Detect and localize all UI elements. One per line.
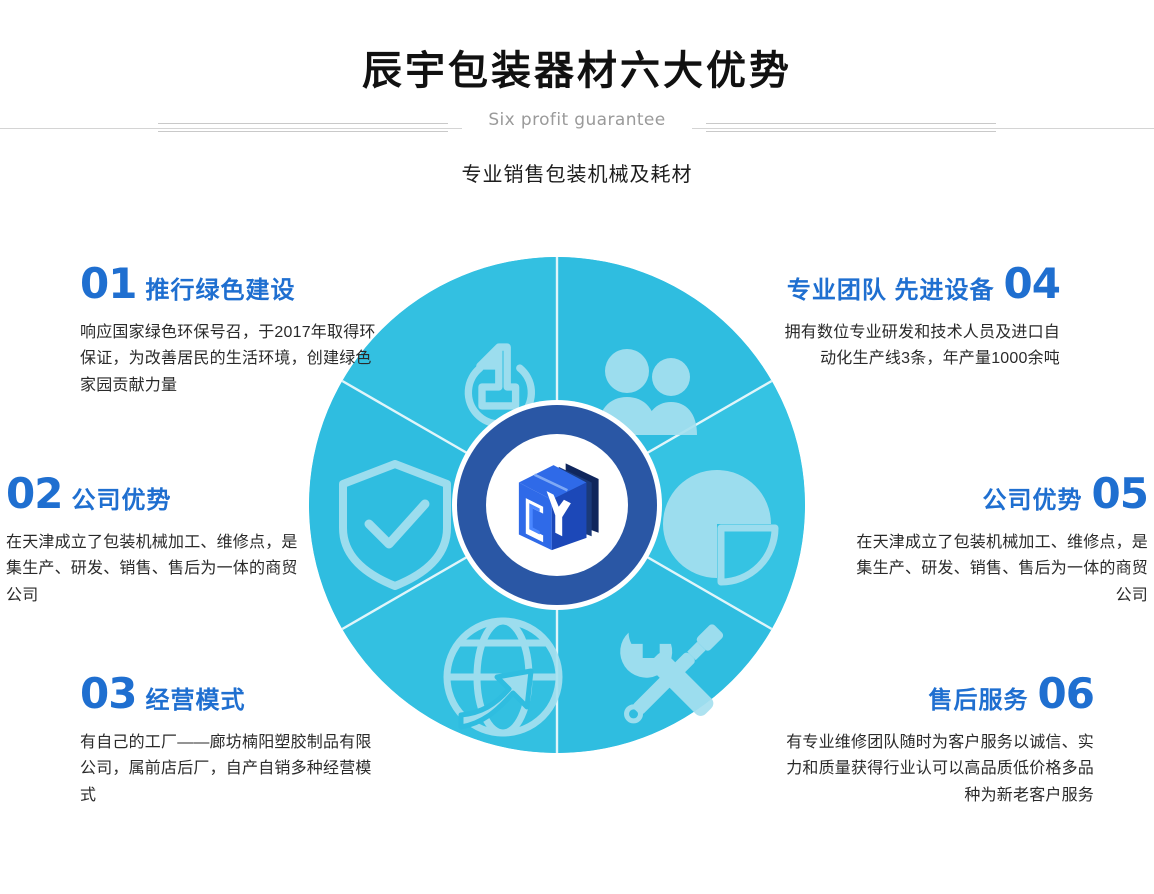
advantage-number-03: 03 xyxy=(80,673,136,715)
advantage-heading-03: 03 经营模式 xyxy=(80,673,386,715)
advantage-item-01: 01 推行绿色建设 响应国家绿色环保号召，于2017年取得环保证，为改善居民的生… xyxy=(80,263,380,399)
advantage-title-04: 专业团队 先进设备 xyxy=(787,279,995,303)
advantage-heading-04: 专业团队 先进设备 04 xyxy=(772,263,1060,305)
advantage-item-02: 02 公司优势 在天津成立了包装机械加工、维修点，是集生产、研发、销售、售后为一… xyxy=(6,473,302,609)
advantage-item-06: 售后服务 06 有专业维修团队随时为客户服务以诚信、实力和质量获得行业认可以高品… xyxy=(778,673,1094,809)
advantage-heading-02: 02 公司优势 xyxy=(6,473,302,515)
subtitle-english: Six profit guarantee xyxy=(0,110,1154,130)
advantage-item-04: 专业团队 先进设备 04 拥有数位专业研发和技术人员及进口自动化生产线3条，年产… xyxy=(772,263,1060,373)
advantage-body-05: 在天津成立了包装机械加工、维修点，是集生产、研发、销售、售后为一体的商贸公司 xyxy=(850,530,1148,609)
advantage-number-05: 05 xyxy=(1092,473,1148,515)
advantage-title-03: 经营模式 xyxy=(145,689,245,713)
advantage-heading-01: 01 推行绿色建设 xyxy=(80,263,380,305)
advantage-title-06: 售后服务 xyxy=(929,689,1029,713)
advantage-heading-05: 公司优势 05 xyxy=(850,473,1148,515)
chenyu-box-logo-icon xyxy=(505,453,609,557)
wheel-hub xyxy=(457,405,657,605)
advantage-number-02: 02 xyxy=(6,473,62,515)
subtitle-chinese: 专业销售包装机械及耗材 xyxy=(0,158,1154,187)
advantage-body-06: 有专业维修团队随时为客户服务以诚信、实力和质量获得行业认可以高品质低价格多品种为… xyxy=(778,730,1094,809)
infographic-page: 辰宇包装器材六大优势 Six profit guarantee 专业销售包装机械… xyxy=(0,0,1154,894)
advantage-title-05: 公司优势 xyxy=(983,489,1083,513)
advantage-title-02: 公司优势 xyxy=(71,489,171,513)
advantage-title-01: 推行绿色建设 xyxy=(145,279,295,303)
advantage-number-01: 01 xyxy=(80,263,136,305)
hub-inner-circle xyxy=(486,434,628,576)
advantage-body-01: 响应国家绿色环保号召，于2017年取得环保证，为改善居民的生活环境，创建绿色家园… xyxy=(80,320,380,399)
advantage-number-06: 06 xyxy=(1038,673,1094,715)
advantage-item-05: 公司优势 05 在天津成立了包装机械加工、维修点，是集生产、研发、销售、售后为一… xyxy=(850,473,1148,609)
advantage-heading-06: 售后服务 06 xyxy=(778,673,1094,715)
advantage-body-03: 有自己的工厂——廊坊楠阳塑胶制品有限公司，属前店后厂，自产自销多种经营模式 xyxy=(80,730,386,809)
advantage-number-04: 04 xyxy=(1004,263,1060,305)
advantage-body-02: 在天津成立了包装机械加工、维修点，是集生产、研发、销售、售后为一体的商贸公司 xyxy=(6,530,302,609)
advantage-body-04: 拥有数位专业研发和技术人员及进口自动化生产线3条，年产量1000余吨 xyxy=(772,320,1060,373)
page-title: 辰宇包装器材六大优势 xyxy=(0,38,1154,96)
advantage-item-03: 03 经营模式 有自己的工厂——廊坊楠阳塑胶制品有限公司，属前店后厂，自产自销多… xyxy=(80,673,386,809)
